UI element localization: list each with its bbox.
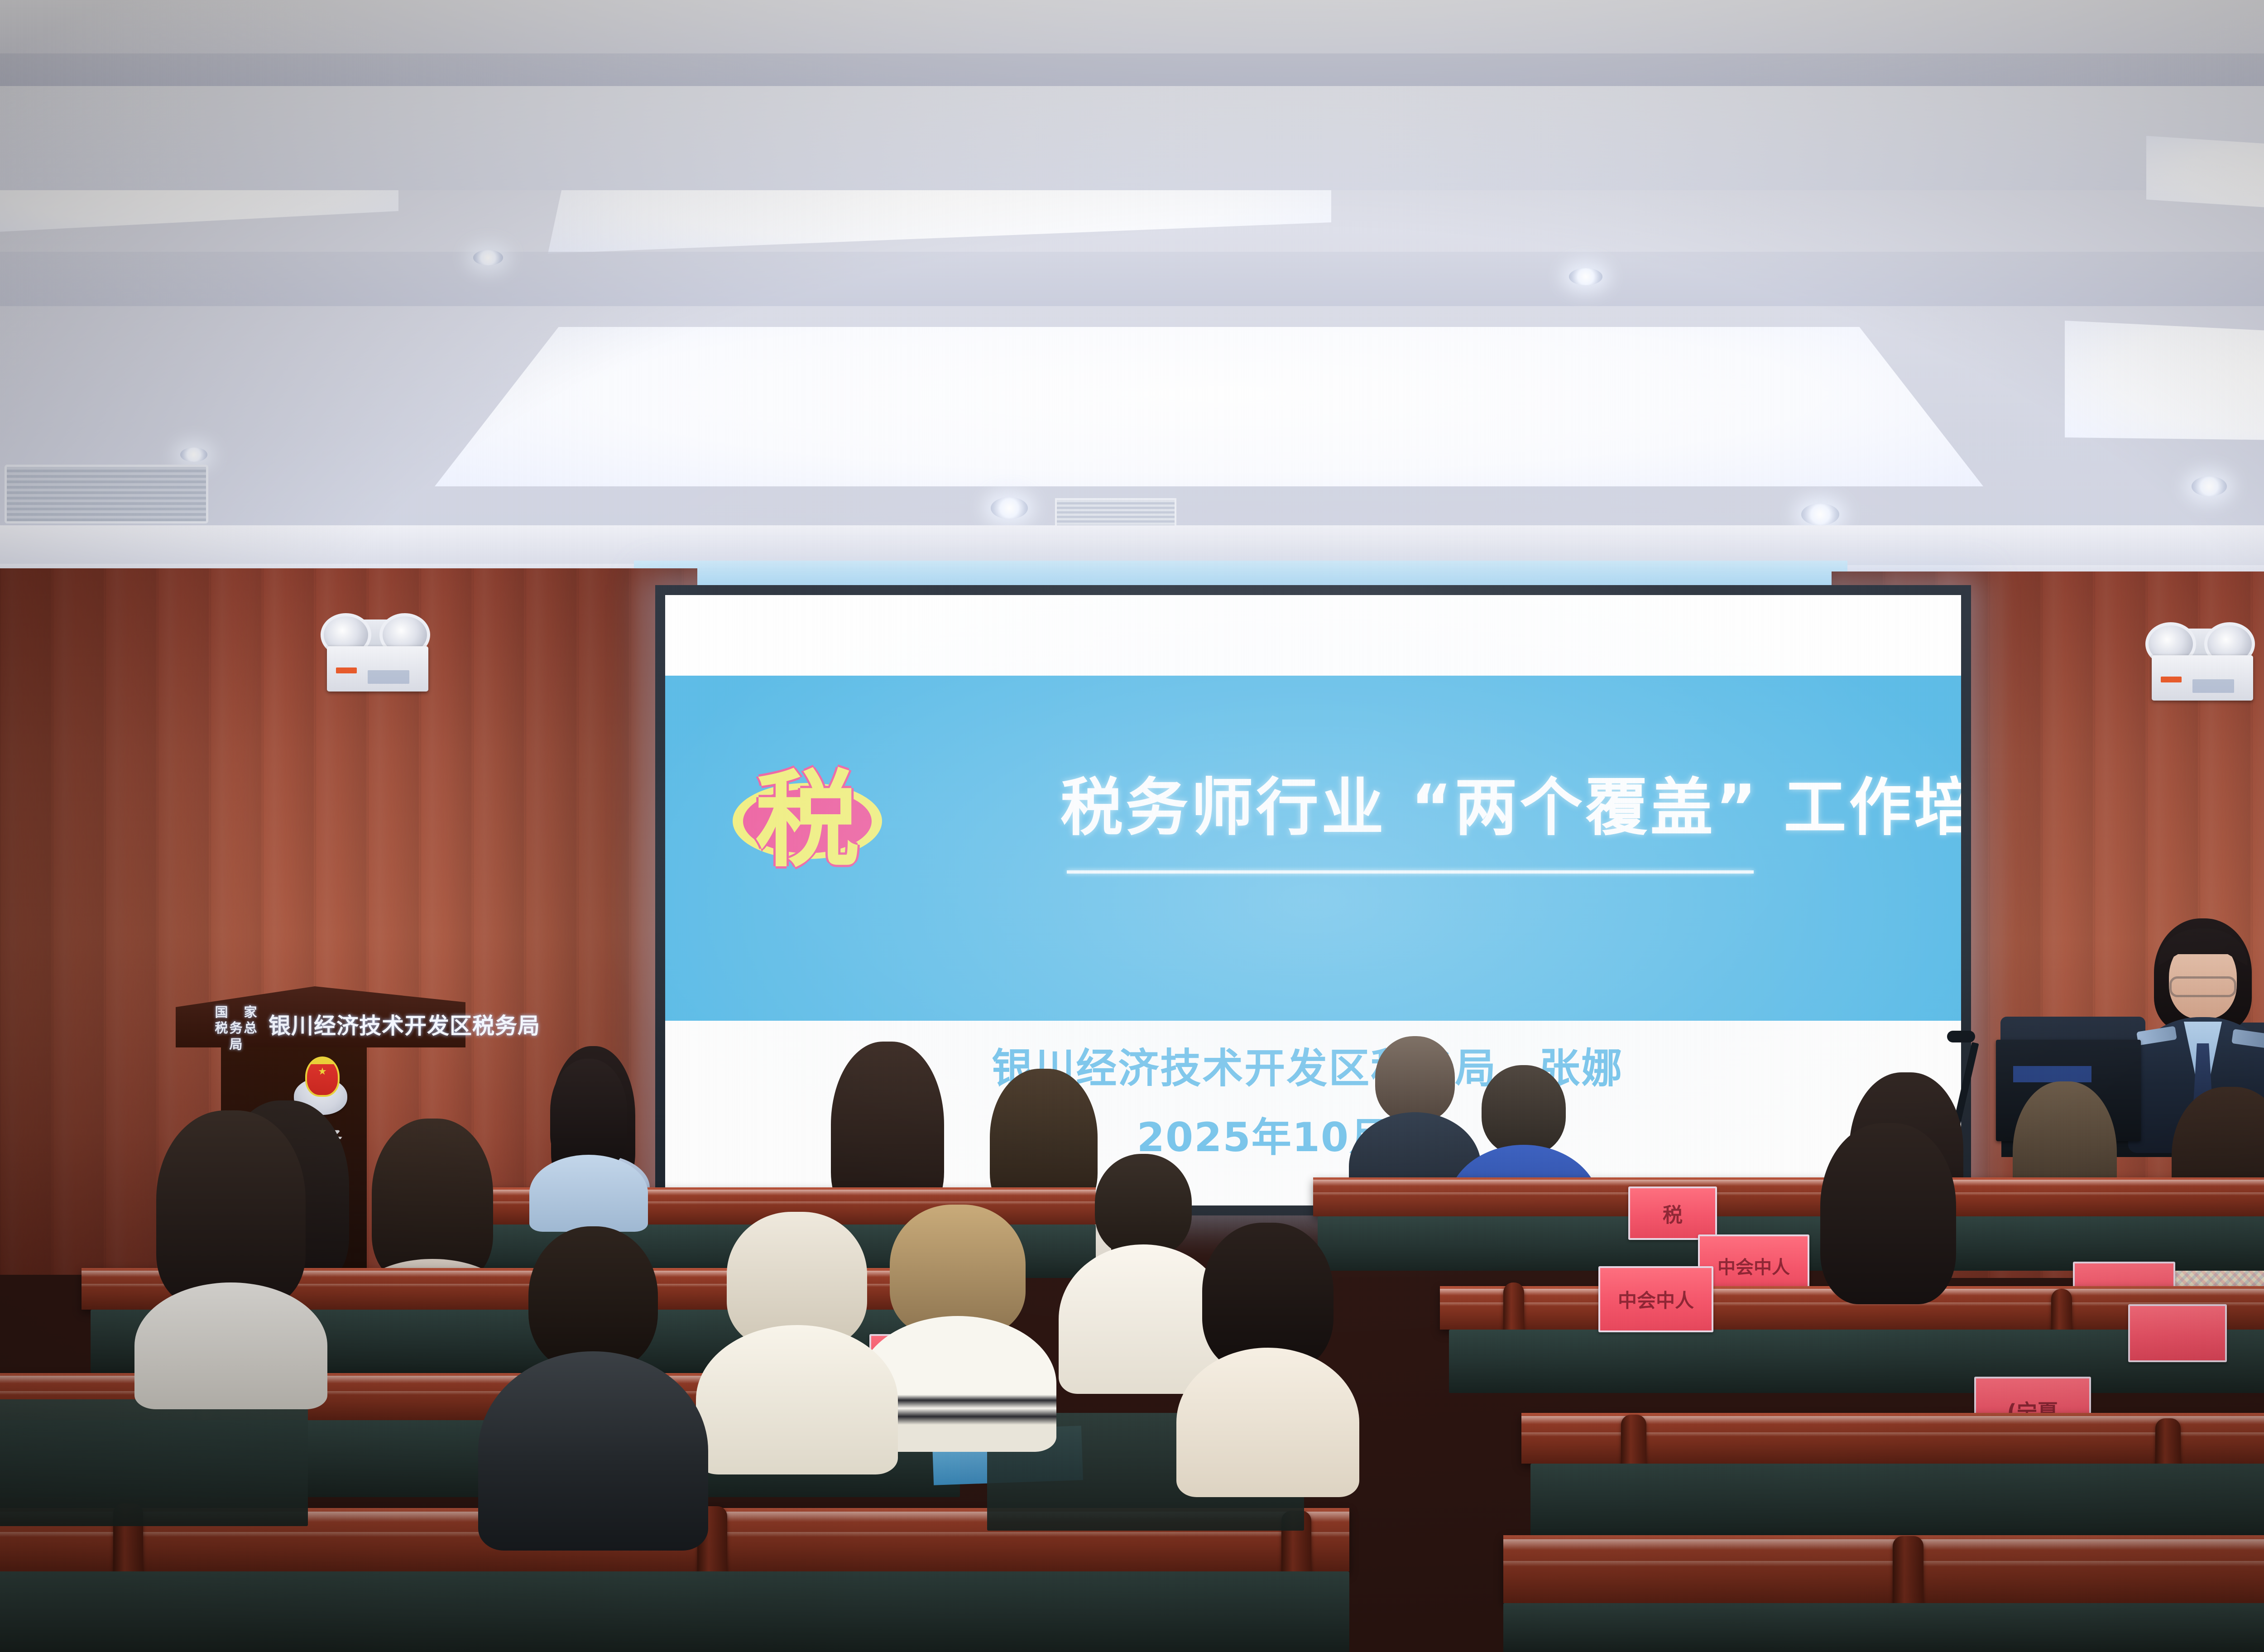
person-dark-jacket <box>478 1351 708 1551</box>
officer-glasses <box>2169 976 2236 997</box>
ceiling-reveal-1 <box>0 53 2264 91</box>
ceiling-ac-vent-1 <box>5 465 208 523</box>
ceiling-led-panel-5 <box>2065 312 2264 448</box>
desk-gloss <box>1503 1539 2264 1550</box>
name-placard-7 <box>2128 1304 2227 1362</box>
audience-person-mid-4 <box>1177 1223 1358 1476</box>
person-hair <box>156 1110 306 1305</box>
ceiling-downlight-1 <box>473 250 503 265</box>
desk-gloss <box>1313 1180 2264 1186</box>
ceiling-downlight-3 <box>991 497 1028 519</box>
person-cream-sweater <box>696 1325 898 1474</box>
bench-seat-row-4-right[interactable] <box>1503 1603 2264 1652</box>
placard-text: 税 <box>1630 1199 1715 1228</box>
ceiling-led-panel-3 <box>435 312 1983 494</box>
placard-text: 中会中人 <box>1700 1253 1808 1279</box>
person-head <box>528 1226 658 1371</box>
podium-agency-main-text: 银川经济技术开发区税务局 <box>269 1008 540 1040</box>
desk-row-1-right <box>1313 1177 2264 1216</box>
person-hair <box>372 1119 493 1282</box>
ceiling-coffer-upper <box>0 86 2264 190</box>
emergency-light-indicator-right <box>2161 677 2182 682</box>
ceiling-downlight-4 <box>1801 504 1839 525</box>
ceiling-downlight-7 <box>180 447 207 462</box>
ceiling-ac-vent-2 <box>1055 498 1176 528</box>
audience-person-front-2 <box>480 1226 706 1543</box>
person-head <box>1375 1036 1455 1122</box>
slide-title-band: 税 税务师行业 “两个覆盖” 工作培训 <box>665 676 1961 1021</box>
audience-person-front-5 <box>1802 1123 1974 1359</box>
person-grey-sweater <box>134 1282 327 1409</box>
name-placard-6: 中会中人 <box>1598 1266 1713 1332</box>
desk-gloss-2 <box>1313 1192 2264 1196</box>
slide-divider-rule <box>1067 870 1754 874</box>
ceiling-downlight-2 <box>1569 268 1602 285</box>
foreground-seat-left[interactable] <box>0 1399 308 1526</box>
ceiling <box>0 0 2264 602</box>
ceiling-led-panel-4 <box>2146 136 2264 222</box>
ceiling-band-top <box>0 0 2264 54</box>
person-hair <box>550 1059 627 1167</box>
monitor-screen-strip-left <box>2013 1066 2091 1082</box>
person-hair <box>1820 1123 1956 1304</box>
name-placard-1: 税 <box>1628 1186 1717 1240</box>
slide-top-whitespace <box>665 595 1961 676</box>
slide-title: 税务师行业 “两个覆盖” 工作培训 <box>1060 757 1961 847</box>
emergency-light-label-left <box>368 670 409 684</box>
ceiling-reveal-2 <box>0 252 2264 306</box>
conference-room-photo: 税 税务师行业 “两个覆盖” 工作培训 银川经济技术开发区税务局 张娜 2025… <box>0 0 2264 1652</box>
placard-text: 中会中人 <box>1600 1286 1712 1313</box>
bench-seat-row-4-left[interactable] <box>0 1571 1349 1652</box>
bench-seat-row-3-right[interactable] <box>1530 1464 2264 1541</box>
emergency-light-label-right <box>2192 679 2234 693</box>
desk-microphone-head <box>1947 1031 1975 1042</box>
ceiling-downlight-5 <box>2192 476 2227 496</box>
emblem-shield: ★ <box>305 1057 340 1097</box>
audience-person-front-1 <box>136 1110 326 1382</box>
emergency-light-right <box>2142 621 2263 701</box>
desk-gloss-2 <box>1503 1561 2264 1566</box>
person-shirt <box>529 1155 648 1232</box>
podium-agency-small-text: 国 家 税务总局 <box>208 1004 265 1052</box>
desk-row-4-right <box>1503 1535 2264 1603</box>
audience-person-front-3 <box>697 1212 897 1484</box>
screen-top-fascia <box>634 561 1847 587</box>
emblem-star: ★ <box>318 1066 327 1076</box>
person-head <box>1482 1065 1566 1155</box>
emblem-glyph: 税 <box>755 769 859 873</box>
person-beige-coat <box>1176 1348 1359 1497</box>
emergency-light-indicator-left <box>336 668 357 673</box>
tax-bureau-emblem-icon: 税 <box>733 753 882 889</box>
emergency-light-left <box>317 612 438 692</box>
audience-person-back-uniform <box>530 1059 648 1213</box>
